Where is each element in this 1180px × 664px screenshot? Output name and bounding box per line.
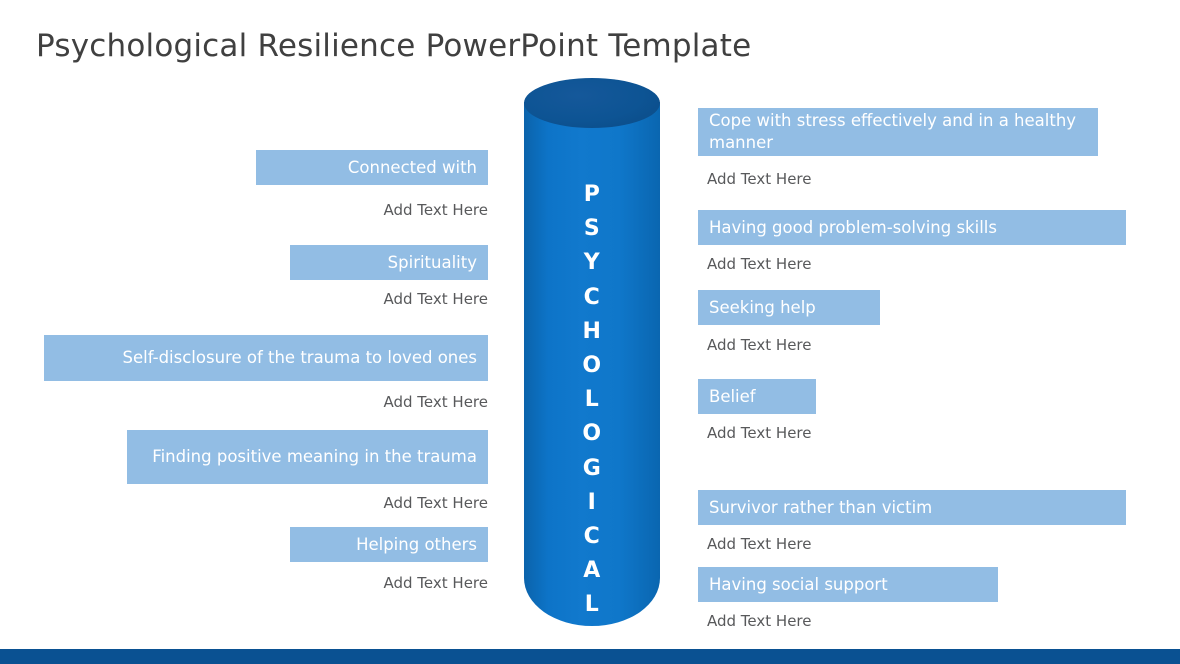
right-item-caption-2[interactable]: Add Text Here [707, 254, 1007, 274]
left-item-bar-4[interactable]: Finding positive meaning in the trauma [127, 430, 488, 484]
right-item-label-4: Belief [709, 386, 805, 408]
left-item-caption-4[interactable]: Add Text Here [288, 493, 488, 513]
left-item-bar-5[interactable]: Helping others [290, 527, 488, 562]
bottom-accent-bar [0, 649, 1180, 664]
right-item-bar-4[interactable]: Belief [698, 379, 816, 414]
right-item-caption-5[interactable]: Add Text Here [707, 534, 1007, 554]
right-item-label-6: Having social support [709, 574, 987, 596]
cylinder-letter-1: P [584, 178, 601, 212]
cylinder-letter-7: L [585, 383, 600, 417]
right-item-caption-1[interactable]: Add Text Here [707, 169, 1007, 189]
cylinder-letter-2: S [584, 212, 600, 246]
left-item-label-3: Self-disclosure of the trauma to loved o… [55, 347, 477, 369]
left-item-bar-1[interactable]: Connected with [256, 150, 488, 185]
left-item-label-2: Spirituality [301, 252, 477, 274]
left-item-caption-3[interactable]: Add Text Here [288, 392, 488, 412]
right-item-label-1: Cope with stress effectively and in a he… [709, 110, 1087, 154]
right-item-caption-4[interactable]: Add Text Here [707, 423, 1007, 443]
right-item-bar-6[interactable]: Having social support [698, 567, 998, 602]
left-item-label-5: Helping others [301, 534, 477, 556]
right-item-bar-5[interactable]: Survivor rather than victim [698, 490, 1126, 525]
psychological-cylinder: P S Y C H O L O G I C A L [524, 78, 660, 626]
right-item-bar-2[interactable]: Having good problem-solving skills [698, 210, 1126, 245]
cylinder-letter-10: I [588, 486, 597, 520]
slide-canvas: Psychological Resilience PowerPoint Temp… [0, 0, 1180, 664]
left-item-bar-3[interactable]: Self-disclosure of the trauma to loved o… [44, 335, 488, 381]
left-item-label-4: Finding positive meaning in the trauma [138, 446, 477, 468]
right-item-caption-6[interactable]: Add Text Here [707, 611, 1007, 631]
cylinder-letter-12: A [583, 554, 601, 588]
cylinder-vertical-label: P S Y C H O L O G I C A L [524, 178, 660, 623]
cylinder-letter-13: L [585, 588, 600, 622]
right-item-caption-3[interactable]: Add Text Here [707, 335, 1007, 355]
cylinder-letter-9: G [583, 452, 602, 486]
right-item-label-3: Seeking help [709, 297, 869, 319]
cylinder-letter-11: C [584, 520, 601, 554]
cylinder-letter-6: O [582, 349, 601, 383]
cylinder-letter-4: C [584, 281, 601, 315]
left-item-caption-2[interactable]: Add Text Here [288, 289, 488, 309]
left-item-label-1: Connected with [267, 157, 477, 179]
cylinder-letter-3: Y [584, 246, 600, 280]
left-item-caption-5[interactable]: Add Text Here [288, 573, 488, 593]
left-item-bar-2[interactable]: Spirituality [290, 245, 488, 280]
cylinder-top-ellipse [524, 78, 660, 128]
left-item-caption-1[interactable]: Add Text Here [288, 200, 488, 220]
cylinder-letter-8: O [582, 417, 601, 451]
right-item-label-2: Having good problem-solving skills [709, 217, 1115, 239]
right-item-label-5: Survivor rather than victim [709, 497, 1115, 519]
page-title: Psychological Resilience PowerPoint Temp… [36, 27, 751, 65]
right-item-bar-1[interactable]: Cope with stress effectively and in a he… [698, 108, 1098, 156]
right-item-bar-3[interactable]: Seeking help [698, 290, 880, 325]
cylinder-letter-5: H [583, 315, 602, 349]
